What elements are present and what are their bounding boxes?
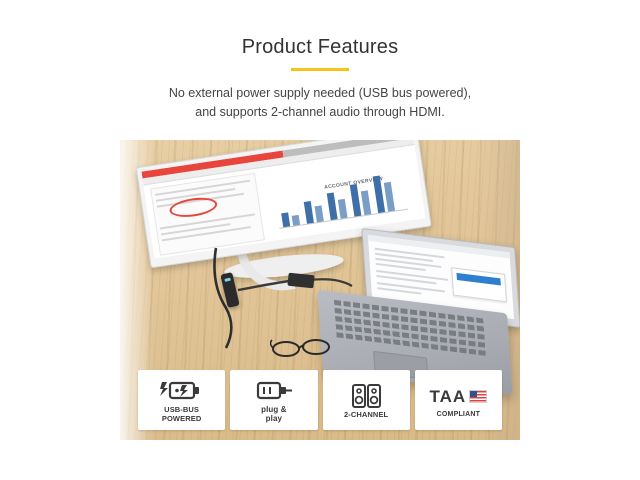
title-underline-rule [291, 68, 349, 71]
feature-label-line1: plug & [261, 405, 286, 414]
feature-label-2-channel: 2-CHANNEL [344, 410, 388, 419]
feature-label-line2: play [261, 414, 286, 423]
eyeglasses [270, 336, 340, 362]
subtitle-line-2: and supports 2-channel audio through HDM… [85, 103, 555, 122]
page-subtitle: No external power supply needed (USB bus… [85, 84, 555, 122]
page-title: Product Features [0, 36, 640, 59]
feature-card-plug-and-play: plug & play [230, 370, 317, 430]
feature-label-compliant: COMPLIANT [437, 411, 480, 418]
feature-icon-strip: USB-BUS POWERED plug & play [138, 370, 502, 430]
header: Product Features No external power suppl… [0, 36, 640, 122]
adapter-led-indicator [224, 278, 231, 282]
feature-card-usb-bus-powered: USB-BUS POWERED [138, 370, 225, 430]
feature-card-taa-compliant: TAA COMPLIANT [415, 370, 502, 430]
taa-wordmark: TAA [430, 383, 488, 411]
taa-text: TAA [430, 387, 467, 407]
feature-label-line2: POWERED [162, 414, 201, 423]
plug-play-icon [248, 377, 300, 405]
speakers-icon [340, 382, 392, 410]
hdmi-cable-tail [310, 279, 352, 286]
us-flag-icon [469, 390, 487, 403]
feature-label-line1: USB-BUS [162, 405, 201, 414]
feature-label-usb: USB-BUS POWERED [162, 405, 201, 423]
feature-label-plug-play: plug & play [261, 405, 286, 423]
subtitle-line-1: No external power supply needed (USB bus… [85, 84, 555, 103]
feature-card-2-channel: 2-CHANNEL [323, 370, 410, 430]
usb-bolt-icon [156, 377, 208, 405]
hdmi-connector [287, 273, 314, 289]
feature-label-line1: 2-CHANNEL [344, 410, 388, 419]
product-photo: ACCOUNT OVERVIEW [120, 140, 520, 440]
product-features-page: Product Features No external power suppl… [0, 0, 640, 480]
